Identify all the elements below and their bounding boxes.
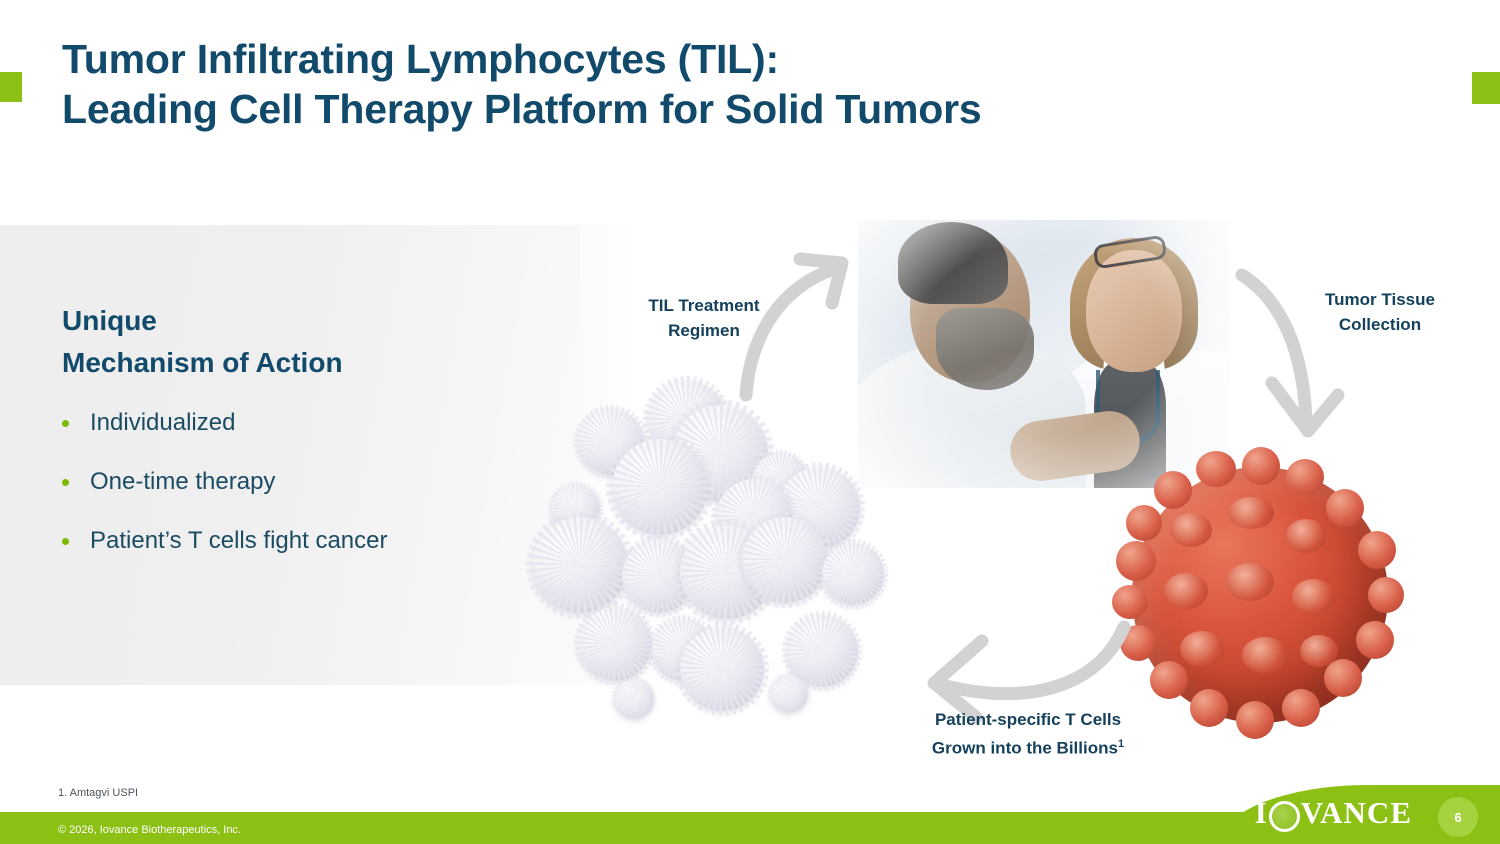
- label-tumor-line-2: Collection: [1339, 315, 1421, 334]
- bullet-list: Individualized One-time therapy Patient’…: [62, 408, 532, 585]
- page-number-badge: 6: [1438, 797, 1478, 837]
- footnote-marker: 1: [1118, 738, 1124, 750]
- accent-square-right: [1472, 72, 1500, 104]
- footnote-text: 1. Amtagvi USPI: [58, 787, 138, 799]
- t-cell: [532, 517, 628, 613]
- tumor-villus: [1368, 577, 1404, 613]
- tumor-villus: [1286, 459, 1324, 495]
- bullet-dot-icon: [62, 479, 69, 486]
- tumor-bump: [1242, 637, 1288, 673]
- t-cell: [742, 517, 828, 603]
- label-til-line-2: Regimen: [668, 321, 740, 340]
- t-cell: [822, 543, 884, 605]
- label-tumor-tissue-collection: Tumor Tissue Collection: [1280, 287, 1480, 337]
- label-til-treatment-regimen: TIL Treatment Regimen: [604, 293, 804, 343]
- tumor-bump: [1292, 579, 1334, 615]
- section-heading-line-2: Mechanism of Action: [62, 342, 492, 384]
- logo-oval-icon: [1269, 801, 1300, 832]
- tumor-bump: [1170, 513, 1212, 547]
- tumor-bump: [1164, 573, 1208, 609]
- cycle-diagram: TIL Treatment Regimen Tumor Tissue Colle…: [520, 195, 1500, 775]
- copyright-text: © 2026, Iovance Biotherapeutics, Inc.: [58, 824, 241, 836]
- tumor-bump: [1180, 631, 1224, 667]
- label-grown-line-1: Patient-specific T Cells: [935, 710, 1121, 729]
- t-cell-cluster-image: [530, 375, 920, 725]
- title-line-1: Tumor Infiltrating Lymphocytes (TIL):: [62, 34, 1162, 84]
- section-heading: Unique Mechanism of Action: [62, 300, 492, 384]
- tumor-villus: [1154, 471, 1192, 509]
- bullet-text: One-time therapy: [90, 467, 275, 497]
- list-item: Patient’s T cells fight cancer: [62, 526, 532, 556]
- list-item: One-time therapy: [62, 467, 532, 497]
- label-patient-specific-t-cells: Patient-specific T Cells Grown into the …: [888, 707, 1168, 761]
- section-heading-line-1: Unique: [62, 300, 492, 342]
- tumor-cell-image: [1110, 445, 1410, 745]
- t-cell: [770, 675, 808, 713]
- tumor-bump: [1300, 635, 1338, 667]
- tumor-villus: [1282, 689, 1320, 727]
- t-cell: [614, 679, 654, 719]
- logo-text-left: I: [1255, 795, 1268, 831]
- bullet-text: Individualized: [90, 408, 235, 438]
- tumor-bump: [1228, 497, 1274, 529]
- tumor-villus: [1126, 505, 1162, 541]
- bullet-dot-icon: [62, 420, 69, 427]
- t-cell: [680, 627, 764, 711]
- tumor-villus: [1236, 701, 1274, 739]
- tumor-villus: [1196, 451, 1236, 487]
- tumor-villus: [1356, 621, 1394, 659]
- accent-square-left: [0, 72, 22, 102]
- logo-text-right: VANCE: [1301, 795, 1412, 831]
- bullet-dot-icon: [62, 538, 69, 545]
- tumor-villus: [1358, 531, 1396, 569]
- t-cell: [612, 439, 708, 535]
- page-title: Tumor Infiltrating Lymphocytes (TIL): Le…: [62, 34, 1162, 134]
- tumor-villus: [1190, 689, 1228, 727]
- list-item: Individualized: [62, 408, 532, 438]
- tumor-villus: [1324, 659, 1362, 697]
- tumor-villus: [1150, 661, 1188, 699]
- label-tumor-line-1: Tumor Tissue: [1325, 290, 1435, 309]
- label-til-line-1: TIL Treatment: [648, 296, 759, 315]
- tumor-villus: [1116, 541, 1156, 581]
- title-line-2: Leading Cell Therapy Platform for Solid …: [62, 84, 1162, 134]
- bullet-text: Patient’s T cells fight cancer: [90, 526, 388, 556]
- iovance-logo: I VANCE: [1255, 795, 1412, 831]
- tumor-villus: [1326, 489, 1364, 527]
- t-cell: [578, 607, 652, 681]
- tumor-bump: [1226, 563, 1274, 601]
- label-grown-line-2: Grown into the Billions: [932, 739, 1118, 758]
- slide: Tumor Infiltrating Lymphocytes (TIL): Le…: [0, 0, 1500, 844]
- tumor-bump: [1286, 519, 1326, 553]
